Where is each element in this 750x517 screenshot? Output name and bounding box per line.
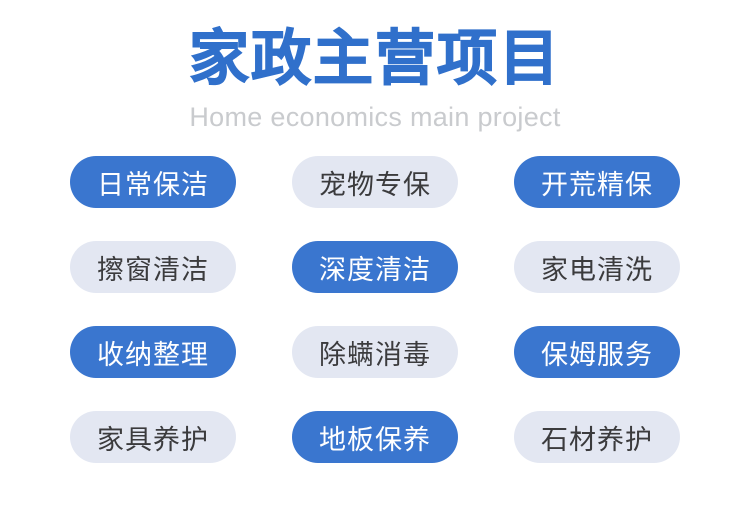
service-row-2: 擦窗清洁 深度清洁 家电清洗 — [70, 241, 680, 293]
service-row-4: 家具养护 地板保养 石材养护 — [70, 411, 680, 463]
service-pill-daily-cleaning[interactable]: 日常保洁 — [70, 156, 236, 208]
service-pill-label: 家具养护 — [97, 418, 209, 457]
page-subtitle: Home economics main project — [0, 100, 750, 134]
home-services-banner: 家政主营项目 Home economics main project 日常保洁 … — [0, 0, 750, 517]
service-row-1: 日常保洁 宠物专保 开荒精保 — [70, 156, 680, 208]
service-pill-label: 宠物专保 — [319, 163, 431, 202]
service-pill-grid: 日常保洁 宠物专保 开荒精保 擦窗清洁 深度清洁 家电清洗 收纳整理 — [70, 156, 680, 463]
service-pill-label: 日常保洁 — [97, 163, 209, 202]
service-pill-label: 收纳整理 — [97, 333, 209, 372]
service-pill-label: 擦窗清洁 — [97, 248, 209, 287]
service-pill-label: 开荒精保 — [541, 163, 653, 202]
service-pill-stone-care[interactable]: 石材养护 — [514, 411, 680, 463]
service-pill-mite-disinfection[interactable]: 除螨消毒 — [292, 326, 458, 378]
service-pill-pet-care[interactable]: 宠物专保 — [292, 156, 458, 208]
service-pill-floor-maintenance[interactable]: 地板保养 — [292, 411, 458, 463]
service-pill-window-cleaning[interactable]: 擦窗清洁 — [70, 241, 236, 293]
service-pill-label: 地板保养 — [319, 418, 431, 457]
service-pill-organizing[interactable]: 收纳整理 — [70, 326, 236, 378]
service-pill-label: 保姆服务 — [541, 333, 653, 372]
service-pill-label: 深度清洁 — [319, 248, 431, 287]
service-pill-label: 除螨消毒 — [319, 333, 431, 372]
service-pill-furniture-care[interactable]: 家具养护 — [70, 411, 236, 463]
service-pill-appliance-cleaning[interactable]: 家电清洗 — [514, 241, 680, 293]
service-pill-nanny-service[interactable]: 保姆服务 — [514, 326, 680, 378]
service-row-3: 收纳整理 除螨消毒 保姆服务 — [70, 326, 680, 378]
service-pill-label: 家电清洗 — [541, 248, 653, 287]
service-pill-label: 石材养护 — [541, 418, 653, 457]
service-pill-post-renovation-cleaning[interactable]: 开荒精保 — [514, 156, 680, 208]
banner-header: 家政主营项目 Home economics main project — [0, 0, 750, 134]
service-pill-deep-cleaning[interactable]: 深度清洁 — [292, 241, 458, 293]
page-title: 家政主营项目 — [0, 26, 750, 92]
